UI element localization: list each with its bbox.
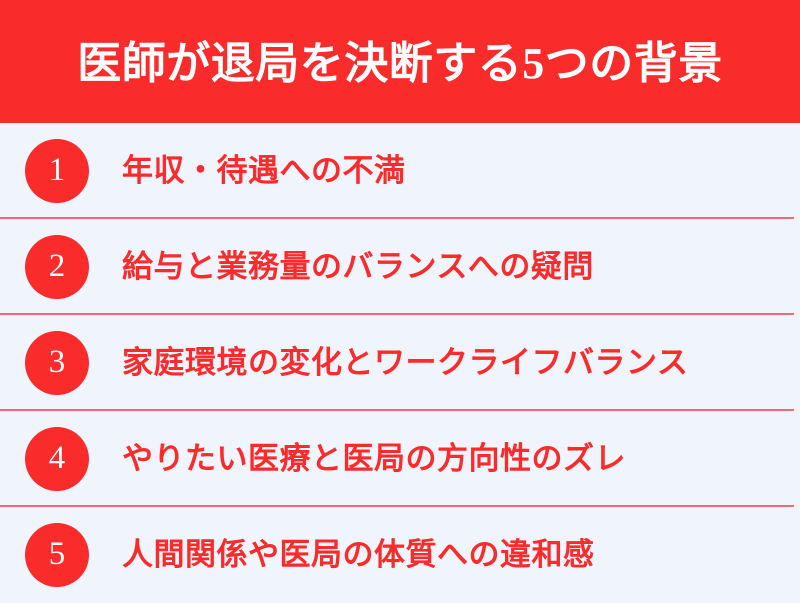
number-badge: 1 xyxy=(25,139,89,203)
list-item: 1 年収・待遇への不満 xyxy=(0,123,800,219)
list-item-label: 家庭環境の変化とワークライフバランス xyxy=(122,346,688,380)
list-item-label: 年収・待遇への不満 xyxy=(122,154,406,188)
number-badge: 4 xyxy=(25,427,89,491)
list-item-label: 給与と業務量のバランスへの疑問 xyxy=(122,250,594,284)
header-band: 医師が退局を決断する5つの背景 xyxy=(0,0,800,123)
number-badge: 3 xyxy=(25,331,89,395)
page-title: 医師が退局を決断する5つの背景 xyxy=(77,42,723,86)
list-item: 4 やりたい医療と医局の方向性のズレ xyxy=(0,411,800,507)
number-badge: 5 xyxy=(25,523,89,587)
list-item-label: 人間関係や医局の体質への違和感 xyxy=(122,538,595,572)
list-item-label: やりたい医療と医局の方向性のズレ xyxy=(122,442,626,476)
number-badge: 2 xyxy=(25,235,89,299)
infographic-card: 医師が退局を決断する5つの背景 1 年収・待遇への不満 2 給与と業務量のバラン… xyxy=(0,0,800,600)
reasons-list: 1 年収・待遇への不満 2 給与と業務量のバランスへの疑問 3 家庭環境の変化と… xyxy=(0,123,800,603)
list-item: 2 給与と業務量のバランスへの疑問 xyxy=(0,219,800,315)
list-item: 5 人間関係や医局の体質への違和感 xyxy=(0,507,800,603)
list-item: 3 家庭環境の変化とワークライフバランス xyxy=(0,315,800,411)
